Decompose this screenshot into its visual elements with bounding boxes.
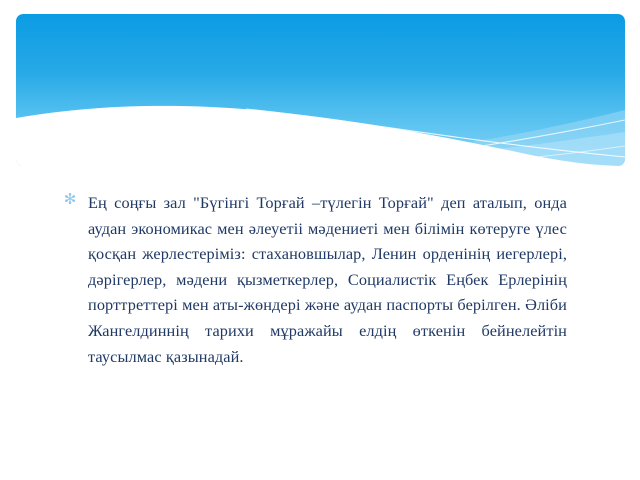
asterisk-bullet-icon: ✻ <box>62 191 78 208</box>
slide-canvas: ✻ Ең соңғы зал "Бүгінгі Торғай –түлегін … <box>0 0 640 480</box>
slide-body: ✻ Ең соңғы зал "Бүгінгі Торғай –түлегін … <box>62 190 567 369</box>
banner-graphic <box>16 14 625 166</box>
body-paragraph: Ең соңғы зал "Бүгінгі Торғай –түлегін То… <box>88 190 567 369</box>
bullet-list-item: ✻ Ең соңғы зал "Бүгінгі Торғай –түлегін … <box>62 190 567 369</box>
decorative-wave-banner <box>16 14 625 166</box>
